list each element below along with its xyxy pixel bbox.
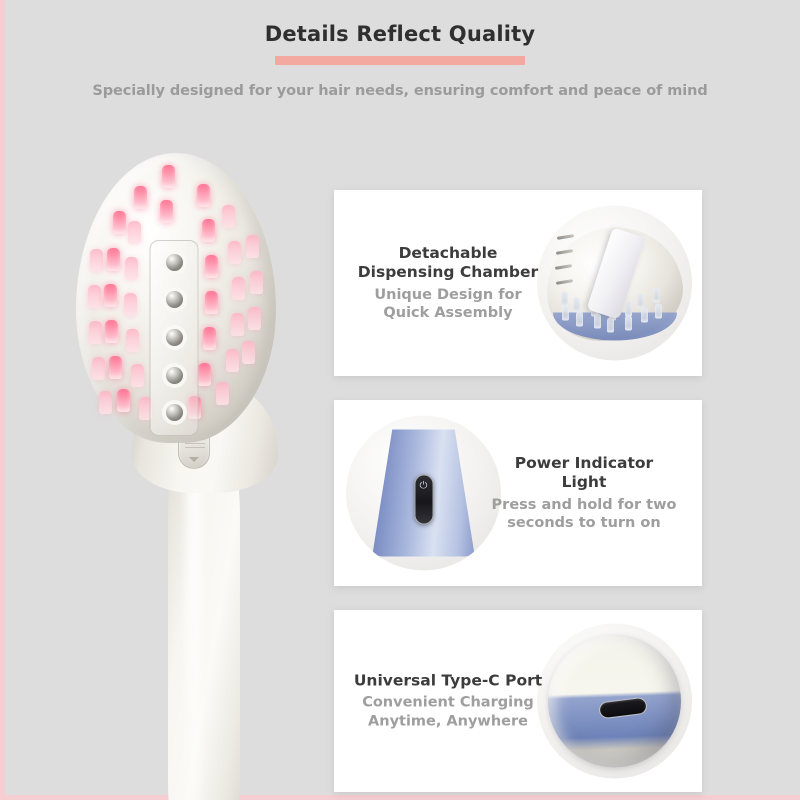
card-2-sub-line-2: seconds to turn on: [484, 514, 684, 532]
card-1-sub-line-1: Unique Design for: [348, 286, 548, 304]
card-3-sub-line-1: Convenient Charging: [348, 694, 548, 712]
contact-pin: [166, 254, 183, 271]
card-1-sub-line-2: Quick Assembly: [348, 304, 548, 322]
feature-card-type-c-port[interactable]: Universal Type-C Port Convenient Chargin…: [334, 610, 702, 792]
card-3-sub-line-2: Anytime, Anywhere: [348, 712, 548, 730]
contact-pin: [166, 329, 183, 346]
dispensing-chamber-plate[interactable]: [150, 240, 199, 436]
feature-card-detachable-chamber[interactable]: Detachable Dispensing Chamber Unique Des…: [334, 190, 702, 376]
type-c-port-photo: [537, 624, 692, 779]
contact-pin: [166, 367, 183, 384]
power-indicator-photo: ⏻: [346, 416, 501, 571]
feature-card-power-indicator[interactable]: ⏻ Power Indicator Light Press and hold f…: [334, 400, 702, 586]
card-1-title-line-2: Dispensing Chamber: [348, 263, 548, 282]
card-2-sub-line-1: Press and hold for two: [484, 496, 684, 514]
page-title: Details Reflect Quality: [0, 22, 800, 46]
switch-arrow-icon: [189, 457, 199, 462]
card-1-text-block: Detachable Dispensing Chamber Unique Des…: [348, 244, 548, 322]
card-2-title-line-2: Light: [484, 473, 684, 492]
card-3-title-line-1: Universal Type-C Port: [348, 672, 548, 691]
left-pink-edge: [0, 0, 5, 800]
card-3-text-block: Universal Type-C Port Convenient Chargin…: [348, 672, 548, 731]
product-illustration: [60, 135, 320, 800]
contact-pin: [166, 404, 183, 421]
comb-head: [76, 153, 276, 443]
detachable-chamber-photo: [537, 206, 692, 361]
page-subtitle: Specially designed for your hair needs, …: [0, 83, 800, 99]
card-2-title-line-1: Power Indicator: [484, 454, 684, 473]
card-2-text-block: Power Indicator Light Press and hold for…: [484, 454, 684, 532]
header: Details Reflect Quality Specially design…: [0, 22, 800, 99]
infographic-page: Details Reflect Quality Specially design…: [0, 0, 800, 800]
power-icon: ⏻: [420, 482, 428, 492]
card-1-title-line-1: Detachable: [348, 244, 548, 263]
title-underline-rule: [275, 56, 525, 65]
contact-pin: [166, 291, 183, 308]
